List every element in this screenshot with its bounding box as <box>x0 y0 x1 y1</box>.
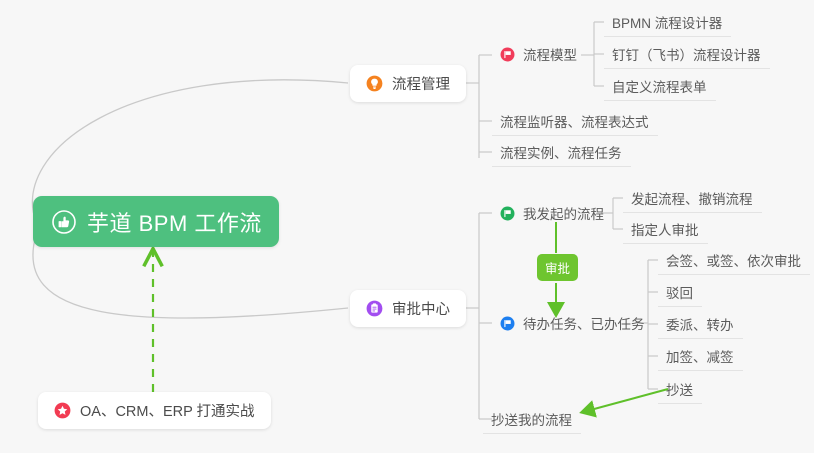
branch-node-process-management[interactable]: 流程管理 <box>350 65 466 102</box>
node-label: BPMN 流程设计器 <box>612 12 722 32</box>
flag-icon <box>500 206 515 221</box>
node-dingtalk-feishu-designer[interactable]: 钉钉（飞书）流程设计器 <box>604 40 770 69</box>
node-assignee-approval[interactable]: 指定人审批 <box>623 215 708 244</box>
flag-icon <box>500 316 515 331</box>
mindmap-canvas: 芋道 BPM 工作流 流程管理 流程模型 BPMN 流程设计器 钉钉（飞书）流程 <box>0 0 814 453</box>
node-label: 抄送我的流程 <box>491 409 572 429</box>
node-label: 待办任务、已办任务 <box>523 313 645 333</box>
node-cc[interactable]: 抄送 <box>658 375 702 404</box>
node-cc-my-process[interactable]: 抄送我的流程 <box>483 405 581 434</box>
node-process-model[interactable]: 流程模型 <box>492 40 586 69</box>
node-my-initiated-process[interactable]: 我发起的流程 <box>492 199 613 228</box>
node-label: 指定人审批 <box>631 219 699 239</box>
node-custom-process-form[interactable]: 自定义流程表单 <box>604 72 716 101</box>
root-node-label: 芋道 BPM 工作流 <box>87 206 262 238</box>
star-icon <box>54 402 71 419</box>
flag-icon <box>500 47 515 62</box>
node-label: 我发起的流程 <box>523 203 604 223</box>
lightbulb-icon <box>366 75 383 92</box>
node-label: 会签、或签、依次审批 <box>666 250 801 270</box>
node-todo-done-tasks[interactable]: 待办任务、已办任务 <box>492 309 654 338</box>
approval-badge: 审批 <box>537 254 578 281</box>
node-label: 发起流程、撤销流程 <box>631 188 753 208</box>
node-label: 流程模型 <box>523 44 577 64</box>
branch-node-label: 流程管理 <box>392 73 450 94</box>
node-delegate-transfer[interactable]: 委派、转办 <box>658 310 743 339</box>
integration-node-label: OA、CRM、ERP 打通实战 <box>80 400 255 421</box>
node-reject[interactable]: 驳回 <box>658 278 702 307</box>
node-bpmn-designer[interactable]: BPMN 流程设计器 <box>604 8 731 37</box>
node-label: 钉钉（飞书）流程设计器 <box>612 44 761 64</box>
clipboard-icon <box>366 300 383 317</box>
root-node[interactable]: 芋道 BPM 工作流 <box>33 196 279 247</box>
node-label: 流程实例、流程任务 <box>500 142 622 162</box>
node-start-cancel-process[interactable]: 发起流程、撤销流程 <box>623 184 762 213</box>
node-label: 流程监听器、流程表达式 <box>500 111 649 131</box>
node-label: 自定义流程表单 <box>612 76 707 96</box>
branch-node-approval-center[interactable]: 审批中心 <box>350 290 466 327</box>
node-countersign[interactable]: 会签、或签、依次审批 <box>658 246 810 275</box>
node-label: 驳回 <box>666 282 693 302</box>
node-label: 委派、转办 <box>666 314 734 334</box>
node-process-instance-task[interactable]: 流程实例、流程任务 <box>492 138 631 167</box>
integration-node[interactable]: OA、CRM、ERP 打通实战 <box>38 392 271 429</box>
approval-badge-label: 审批 <box>545 258 570 277</box>
node-label: 抄送 <box>666 379 693 399</box>
node-add-remove-sign[interactable]: 加签、减签 <box>658 342 743 371</box>
thumbs-up-icon <box>52 210 76 234</box>
node-label: 加签、减签 <box>666 346 734 366</box>
branch-node-label: 审批中心 <box>392 298 450 319</box>
node-process-listener[interactable]: 流程监听器、流程表达式 <box>492 107 658 136</box>
